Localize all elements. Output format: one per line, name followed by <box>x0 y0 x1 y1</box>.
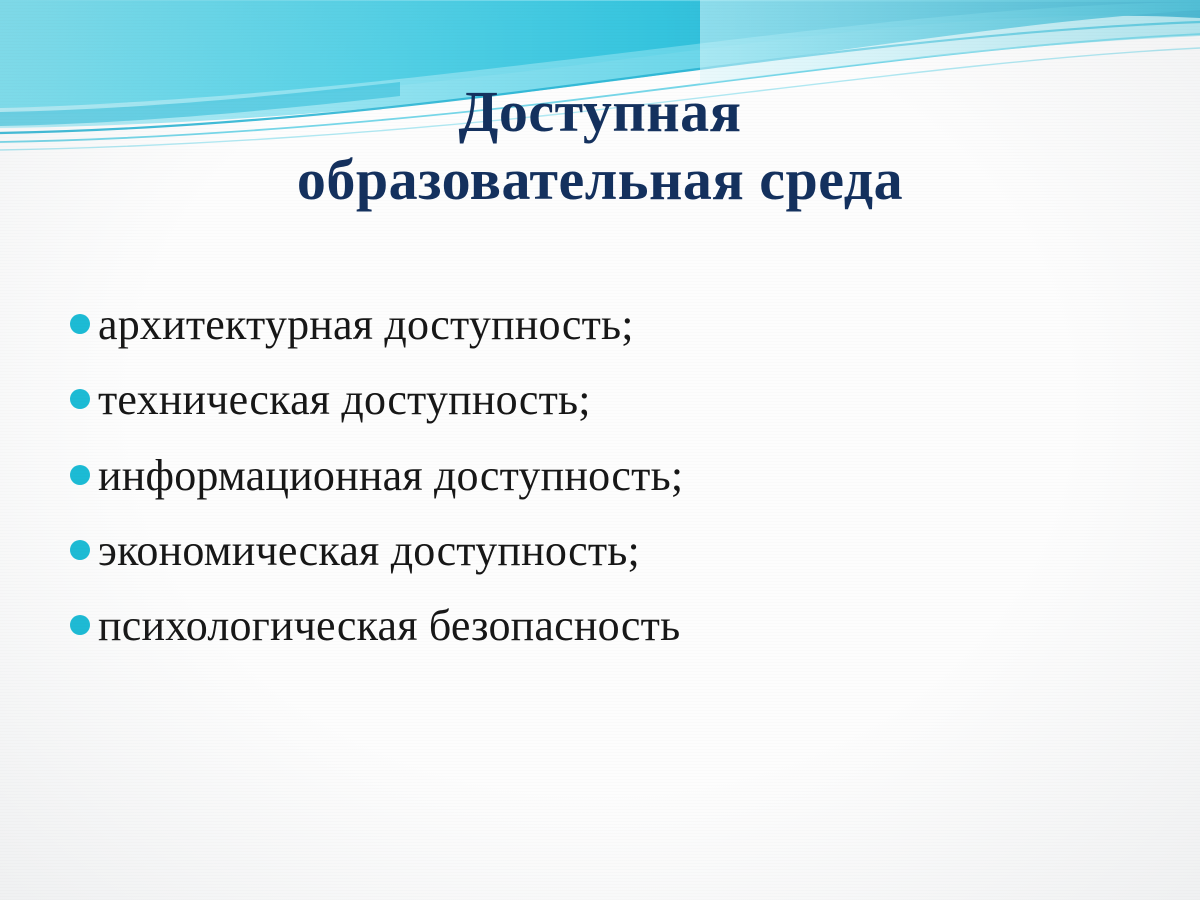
bullet-dot-icon <box>70 615 90 635</box>
list-item-label: информационная доступность; <box>98 451 683 500</box>
list-item-label: психологическая безопасность <box>98 601 680 650</box>
list-item: экономическая доступность; <box>70 526 1150 575</box>
list-item: психологическая безопасность <box>70 601 1150 650</box>
bullet-dot-icon <box>70 314 90 334</box>
bullet-dot-icon <box>70 465 90 485</box>
page-title-line-2: образовательная среда <box>0 146 1200 214</box>
list-item: техническая доступность; <box>70 375 1150 424</box>
bullet-dot-icon <box>70 540 90 560</box>
list-item: информационная доступность; <box>70 451 1150 500</box>
list-item: архитектурная доступность; <box>70 300 1150 349</box>
bullet-list: архитектурная доступность; техническая д… <box>70 300 1150 676</box>
bullet-dot-icon <box>70 389 90 409</box>
page-title-line-1: Доступная <box>0 78 1200 146</box>
slide: Доступная образовательная среда архитект… <box>0 0 1200 900</box>
page-title: Доступная образовательная среда <box>0 78 1200 215</box>
list-item-label: экономическая доступность; <box>98 526 640 575</box>
list-item-label: архитектурная доступность; <box>98 300 634 349</box>
list-item-label: техническая доступность; <box>98 375 591 424</box>
